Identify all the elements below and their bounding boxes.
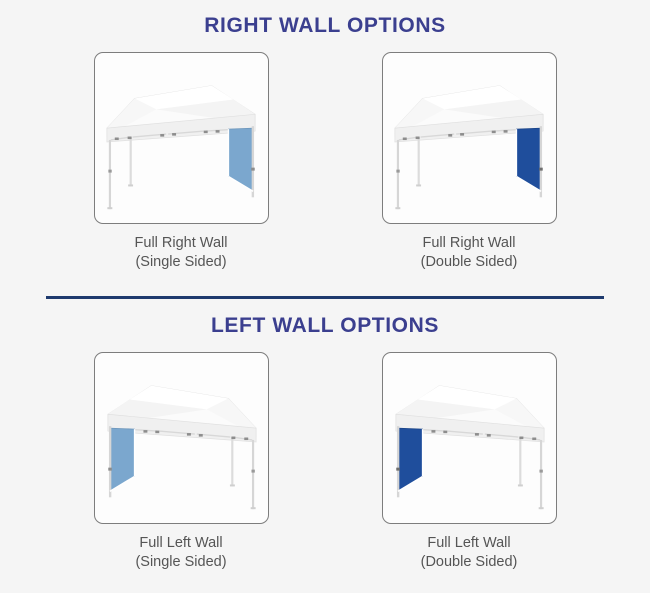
canopy-illustration-card	[94, 352, 269, 524]
wall-panel	[228, 128, 253, 191]
caption-line-2: (Single Sided)	[135, 253, 228, 272]
card-full-right-wall-double-sided[interactable]: Full Right Wall (Double Sided)	[381, 52, 558, 272]
canopy-right-single-icon	[95, 53, 268, 223]
canopy-illustration-card	[94, 52, 269, 224]
section-right-wall-options: RIGHT WALL OPTIONS	[0, 0, 650, 272]
wall-panel	[109, 428, 134, 491]
wall-options-page: RIGHT WALL OPTIONS	[0, 0, 650, 593]
card-full-left-wall-double-sided[interactable]: Full Left Wall (Double Sided)	[381, 352, 558, 572]
caption-line-1: Full Left Wall	[427, 535, 510, 551]
card-caption: Full Right Wall (Single Sided)	[135, 234, 228, 272]
caption-line-1: Full Right Wall	[423, 235, 516, 251]
wall-panel	[397, 428, 422, 491]
section-title-left-wall: LEFT WALL OPTIONS	[0, 299, 650, 352]
caption-line-2: (Single Sided)	[135, 553, 226, 572]
card-caption: Full Left Wall (Single Sided)	[135, 534, 226, 572]
canopy-illustration-card	[382, 352, 557, 524]
card-full-right-wall-single-sided[interactable]: Full Right Wall (Single Sided)	[93, 52, 270, 272]
canopy-illustration-card	[382, 52, 557, 224]
section-title-right-wall: RIGHT WALL OPTIONS	[0, 0, 650, 52]
caption-line-1: Full Right Wall	[135, 235, 228, 251]
cards-row-right-wall: Full Right Wall (Single Sided)	[0, 52, 650, 272]
caption-line-1: Full Left Wall	[139, 535, 222, 551]
canopy-left-double-icon	[383, 353, 556, 523]
caption-line-2: (Double Sided)	[421, 253, 518, 272]
card-caption: Full Right Wall (Double Sided)	[421, 234, 518, 272]
card-caption: Full Left Wall (Double Sided)	[421, 534, 518, 572]
section-left-wall-options: LEFT WALL OPTIONS	[0, 299, 650, 572]
caption-line-2: (Double Sided)	[421, 553, 518, 572]
card-full-left-wall-single-sided[interactable]: Full Left Wall (Single Sided)	[93, 352, 270, 572]
canopy-left-single-icon	[95, 353, 268, 523]
cards-row-left-wall: Full Left Wall (Single Sided)	[0, 352, 650, 572]
canopy-right-double-icon	[383, 53, 556, 223]
wall-panel	[516, 128, 541, 191]
